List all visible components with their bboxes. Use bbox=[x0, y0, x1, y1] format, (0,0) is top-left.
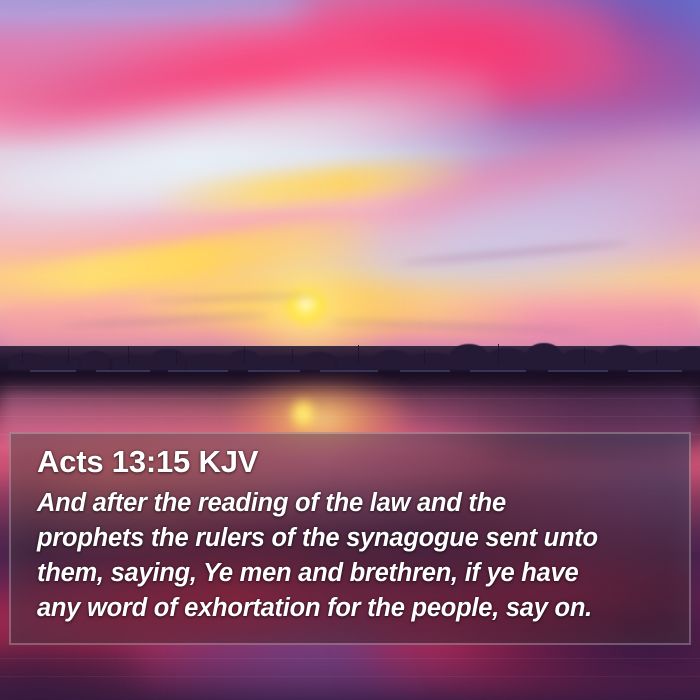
water-ripple bbox=[0, 386, 700, 387]
tree bbox=[8, 353, 48, 370]
tree bbox=[560, 349, 604, 370]
tree bbox=[674, 347, 700, 370]
tree bbox=[258, 355, 304, 370]
bare-branch bbox=[584, 347, 585, 364]
tree bbox=[526, 343, 562, 370]
tree bbox=[150, 349, 186, 370]
bare-branch bbox=[22, 350, 23, 364]
verse-reference: Acts 13:15 KJV bbox=[37, 445, 673, 480]
bare-branch bbox=[656, 349, 657, 364]
verse-text: And after the reading of the law and the… bbox=[37, 486, 673, 626]
verse-text-line: any word of exhortation for the people, … bbox=[37, 591, 673, 626]
bare-branch bbox=[128, 346, 129, 364]
tree bbox=[374, 350, 410, 370]
water-ripple bbox=[0, 398, 700, 399]
water-ripple bbox=[0, 416, 700, 417]
verse-text-line: And after the reading of the law and the bbox=[37, 486, 673, 521]
verse-image-canvas: Acts 13:15 KJV And after the reading of … bbox=[0, 0, 700, 700]
verse-overlay-panel: Acts 13:15 KJV And after the reading of … bbox=[9, 432, 691, 645]
bare-branch bbox=[292, 349, 293, 364]
tree bbox=[46, 356, 80, 370]
sun-reflection-core bbox=[292, 400, 314, 428]
bare-branch bbox=[244, 347, 245, 364]
bare-branch bbox=[176, 351, 177, 364]
bare-branch bbox=[424, 350, 425, 364]
water-ripple bbox=[0, 676, 700, 677]
verse-content: Acts 13:15 KJV And after the reading of … bbox=[25, 445, 673, 626]
sky-layer bbox=[0, 0, 700, 372]
tree bbox=[112, 355, 154, 370]
bare-branch bbox=[358, 345, 359, 364]
tree bbox=[408, 353, 452, 370]
verse-text-line: prophets the rulers of the synagogue sen… bbox=[37, 521, 673, 556]
tree bbox=[336, 356, 376, 370]
tree bbox=[302, 352, 336, 370]
verse-text-line: them, saying, Ye men and brethren, if ye… bbox=[37, 556, 673, 591]
tree bbox=[486, 348, 528, 370]
bare-branch bbox=[68, 348, 69, 364]
tree bbox=[80, 351, 110, 370]
water-ripple bbox=[0, 658, 700, 659]
tree bbox=[602, 345, 640, 370]
tree bbox=[186, 354, 230, 370]
tree bbox=[450, 344, 488, 370]
treeline-silhouette bbox=[0, 330, 700, 378]
bare-branch bbox=[498, 344, 499, 364]
